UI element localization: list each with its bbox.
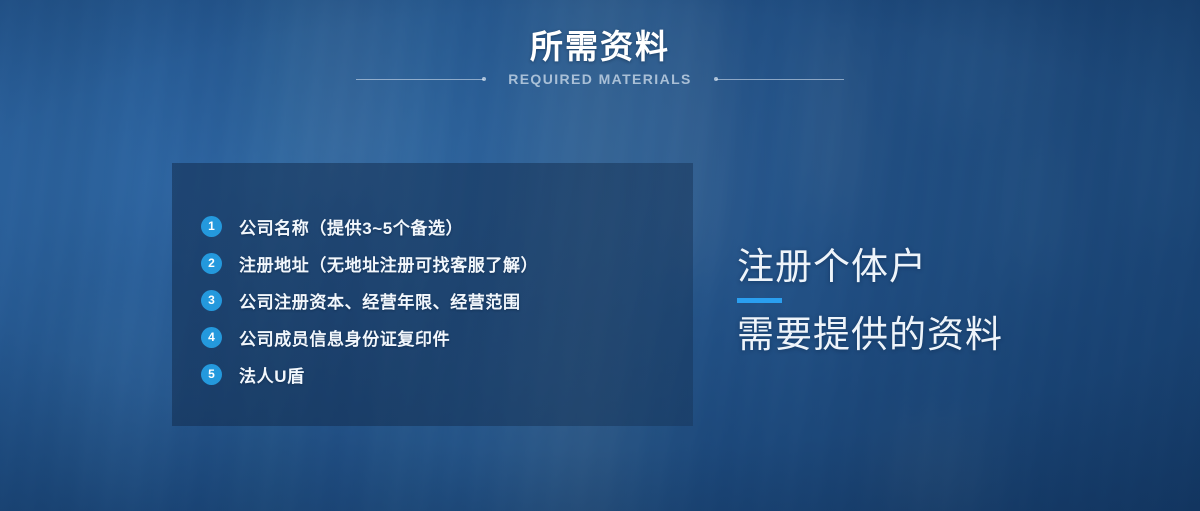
list-item-number-badge: 5: [201, 364, 222, 385]
list-item-label: 公司成员信息身份证复印件: [239, 325, 450, 350]
side-heading-line-2: 需要提供的资料: [737, 313, 1157, 357]
page-subtitle: REQUIRED MATERIALS: [484, 71, 716, 87]
list-item: 2 注册地址（无地址注册可找客服了解）: [201, 245, 538, 282]
list-item-label: 公司名称（提供3~5个备选）: [239, 214, 463, 239]
side-heading-accent-rule: [737, 298, 782, 303]
list-item-number-badge: 2: [201, 253, 222, 274]
required-materials-banner: 所需资料 REQUIRED MATERIALS 1 公司名称（提供3~5个备选）…: [0, 0, 1200, 511]
decorative-line-left: [356, 79, 484, 80]
list-item-label: 公司注册资本、经营年限、经营范围: [239, 288, 521, 313]
list-item-number-badge: 1: [201, 216, 222, 237]
materials-panel: 1 公司名称（提供3~5个备选） 2 注册地址（无地址注册可找客服了解） 3 公…: [172, 163, 693, 426]
decorative-line-right: [716, 79, 844, 80]
side-heading-line-1: 注册个体户: [737, 245, 1157, 289]
side-heading: 注册个体户 需要提供的资料: [737, 245, 1157, 357]
list-item: 5 法人U盾: [201, 356, 538, 393]
list-item: 3 公司注册资本、经营年限、经营范围: [201, 282, 538, 319]
list-item: 1 公司名称（提供3~5个备选）: [201, 208, 538, 245]
list-item-label: 注册地址（无地址注册可找客服了解）: [239, 251, 538, 276]
list-item-number-badge: 3: [201, 290, 222, 311]
list-item: 4 公司成员信息身份证复印件: [201, 319, 538, 356]
list-item-label: 法人U盾: [239, 362, 305, 387]
banner-header: 所需资料 REQUIRED MATERIALS: [0, 26, 1200, 87]
decorative-dot-right: [714, 77, 718, 81]
materials-list: 1 公司名称（提供3~5个备选） 2 注册地址（无地址注册可找客服了解） 3 公…: [201, 208, 538, 393]
page-title: 所需资料: [0, 26, 1200, 68]
subtitle-row: REQUIRED MATERIALS: [0, 71, 1200, 87]
list-item-number-badge: 4: [201, 327, 222, 348]
